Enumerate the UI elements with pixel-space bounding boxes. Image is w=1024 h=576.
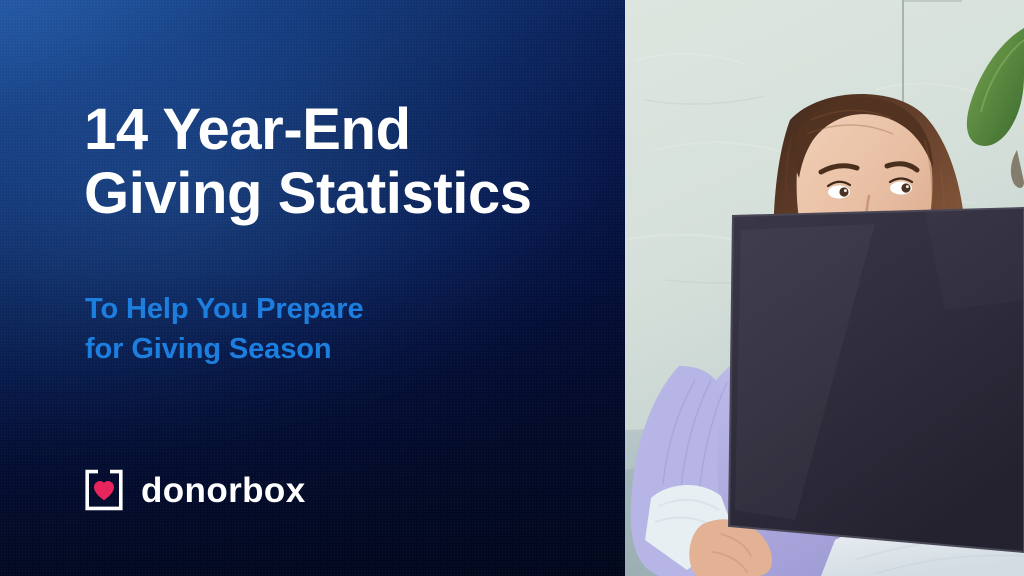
banner: 14 Year-End Giving Statistics To Help Yo…: [0, 0, 1024, 576]
page-title: 14 Year-End Giving Statistics: [84, 98, 604, 226]
donorbox-wordmark: donorbox: [141, 473, 306, 508]
hero-photo: [625, 0, 1024, 576]
page-subtitle: To Help You Prepare for Giving Season: [85, 289, 565, 369]
donorbox-logo[interactable]: donorbox: [82, 468, 306, 512]
donorbox-box-heart-icon: [82, 468, 126, 512]
